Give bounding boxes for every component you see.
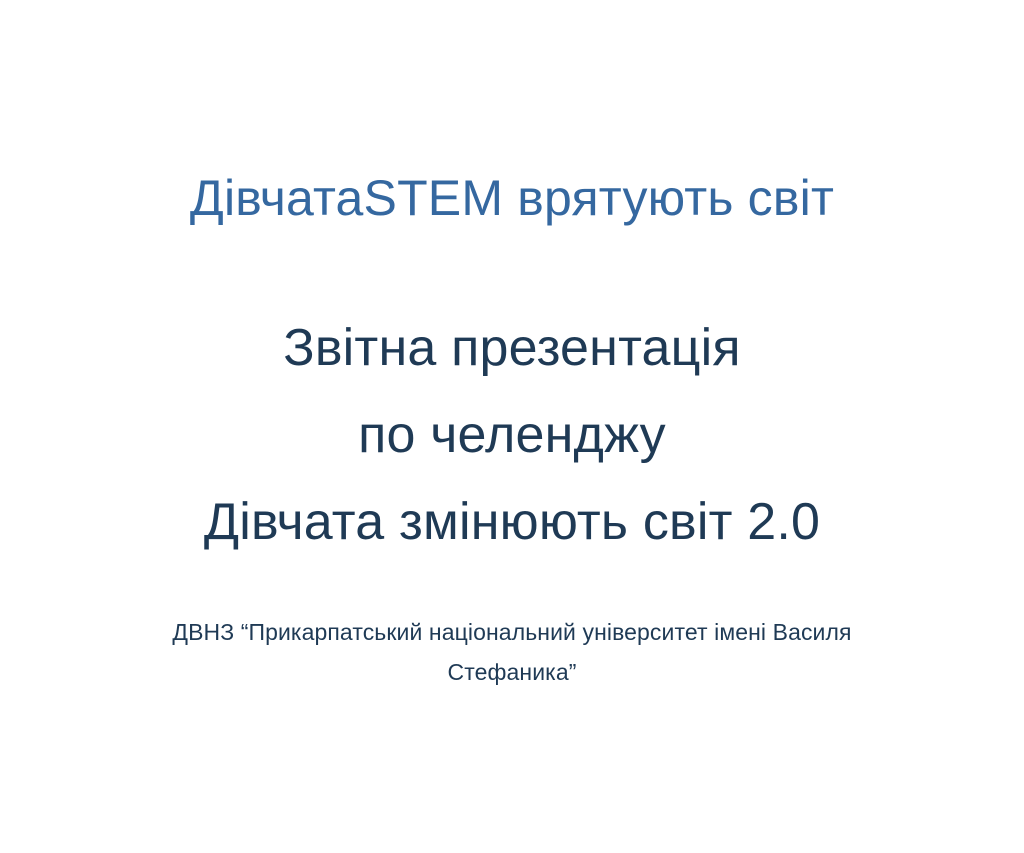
subtitle-line-3: Дівчата змінюють світ 2.0 [0, 479, 1024, 566]
footer-line-2: Стефаника” [40, 652, 984, 692]
slide-subtitle-block: Звітна презентація по челенджу Дівчата з… [0, 305, 1024, 566]
footer-line-1: ДВНЗ “Прикарпатський національний універ… [40, 612, 984, 652]
presentation-slide: ДівчатаSTEM врятують світ Звітна презент… [0, 0, 1024, 853]
subtitle-line-2: по челенджу [0, 392, 1024, 479]
slide-footer-block: ДВНЗ “Прикарпатський національний універ… [0, 612, 1024, 692]
slide-title: ДівчатаSTEM врятують світ [0, 170, 1024, 228]
subtitle-line-1: Звітна презентація [0, 305, 1024, 392]
